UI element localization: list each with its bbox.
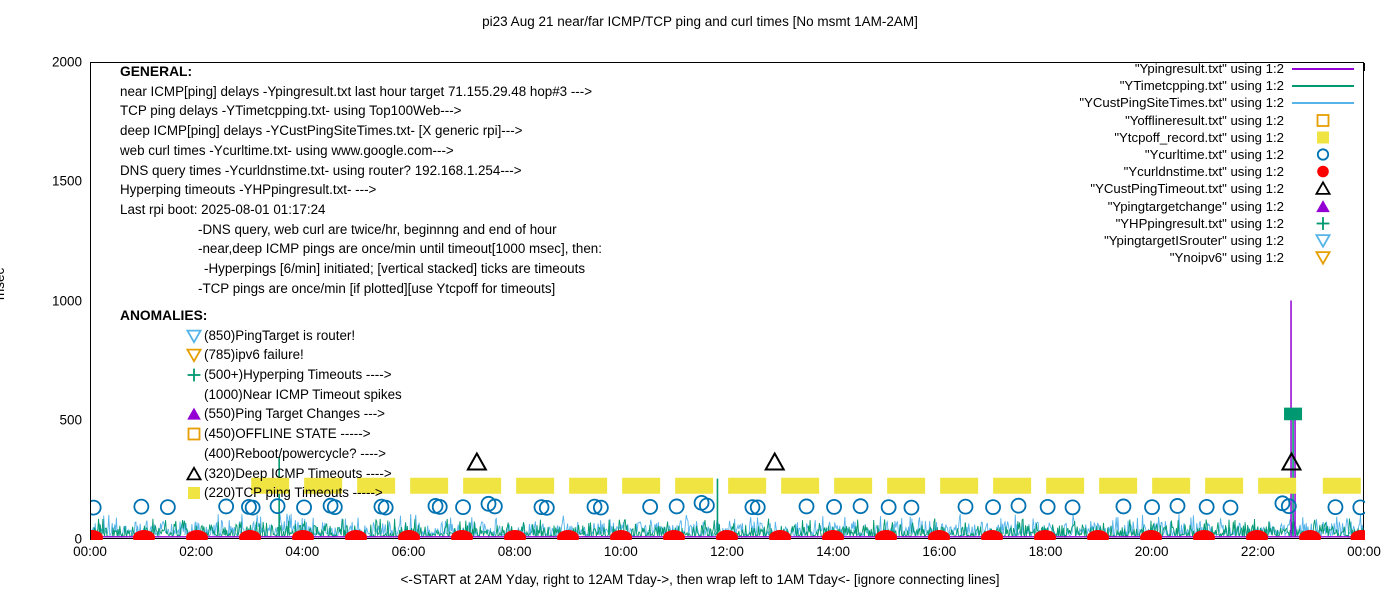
anomaly-item: (785)ipv6 failure! bbox=[120, 345, 207, 365]
legend-entry[interactable]: "Ytcpoff_record.txt" using 1:2 bbox=[960, 129, 1360, 146]
anomaly-item: (1000)Near ICMP Timeout spikes bbox=[120, 385, 207, 405]
legend-key-square-open-icon bbox=[1284, 112, 1360, 129]
x-tick-label: 22:00 bbox=[1241, 544, 1275, 559]
general-line: -near,deep ICMP pings are once/min until… bbox=[120, 239, 602, 259]
anomaly-item: (320)Deep ICMP Timeouts ----> bbox=[120, 464, 207, 484]
general-notes-block: GENERAL:near ICMP[ping] delays -Ypingres… bbox=[120, 62, 602, 298]
legend-entry[interactable]: "YTimetcpping.txt" using 1:2 bbox=[960, 77, 1360, 94]
general-line: deep ICMP[ping] delays -YCustPingSiteTim… bbox=[120, 121, 602, 141]
legend-entry[interactable]: "YCustPingSiteTimes.txt" using 1:2 bbox=[960, 94, 1360, 111]
anomalies-header: ANOMALIES: bbox=[120, 306, 207, 326]
anomaly-item: (550)Ping Target Changes ---> bbox=[120, 404, 207, 424]
x-tick-label: 10:00 bbox=[604, 544, 638, 559]
chart-page: pi23 Aug 21 near/far ICMP/TCP ping and c… bbox=[0, 0, 1400, 600]
x-tick-label: 16:00 bbox=[922, 544, 956, 559]
x-tick-label: 18:00 bbox=[1029, 544, 1063, 559]
legend-label: "YCustPingSiteTimes.txt" using 1:2 bbox=[1079, 95, 1284, 110]
legend-entry[interactable]: "Ynoipv6" using 1:2 bbox=[960, 249, 1360, 266]
legend-key-circle-fill-icon bbox=[1284, 163, 1360, 180]
general-line: -Hyperpings [6/min] initiated; [vertical… bbox=[120, 259, 602, 279]
general-header: GENERAL: bbox=[120, 62, 602, 82]
legend-label: "YpingtargetISrouter" using 1:2 bbox=[1104, 233, 1284, 248]
legend-line-swatch bbox=[1292, 102, 1354, 104]
y-tick-label: 1000 bbox=[0, 293, 82, 308]
x-tick-label: 20:00 bbox=[1135, 544, 1169, 559]
tri-down-lightblue-icon bbox=[184, 328, 204, 344]
anomaly-label: (850)PingTarget is router! bbox=[204, 326, 355, 346]
y-tick-label: 1500 bbox=[0, 174, 82, 189]
legend-label: "YHPpingresult.txt" using 1:2 bbox=[1116, 216, 1284, 231]
y-tick-label: 500 bbox=[0, 412, 82, 427]
anomaly-item: (220)TCP ping Timeouts -----> bbox=[120, 483, 207, 503]
x-tick-label: 00:00 bbox=[73, 544, 107, 559]
legend-key-tri-up-open-icon bbox=[1284, 180, 1360, 197]
legend-entry[interactable]: "YHPpingresult.txt" using 1:2 bbox=[960, 215, 1360, 232]
tri-up-black-icon bbox=[184, 466, 204, 482]
x-tick-label: 06:00 bbox=[392, 544, 426, 559]
legend-entry[interactable]: "YCustPingTimeout.txt" using 1:2 bbox=[960, 180, 1360, 197]
legend-line-swatch bbox=[1292, 85, 1354, 87]
general-line: DNS query times -Ycurldnstime.txt- using… bbox=[120, 161, 602, 181]
general-line: -TCP pings are once/min [if plotted][use… bbox=[120, 279, 602, 299]
legend-key-line-icon bbox=[1284, 77, 1360, 94]
legend-label: "Ycurltime.txt" using 1:2 bbox=[1145, 147, 1284, 162]
legend-key-plus-icon bbox=[1284, 215, 1360, 232]
anomaly-item: (500+)Hyperping Timeouts ----> bbox=[120, 365, 207, 385]
anomalies-notes-block: ANOMALIES:(850)PingTarget is router!(785… bbox=[120, 306, 207, 503]
legend-entry[interactable]: "Ycurldnstime.txt" using 1:2 bbox=[960, 163, 1360, 180]
x-tick-label: 02:00 bbox=[179, 544, 213, 559]
x-axis-label: <-START at 2AM Yday, right to 12AM Tday-… bbox=[0, 572, 1400, 587]
legend-entry[interactable]: "Ypingtargetchange" using 1:2 bbox=[960, 198, 1360, 215]
anomaly-label: (550)Ping Target Changes ---> bbox=[204, 404, 385, 424]
general-line: web curl times -Ycurltime.txt- using www… bbox=[120, 141, 602, 161]
legend-label: "YTimetcpping.txt" using 1:2 bbox=[1120, 78, 1284, 93]
chart-legend: "Ypingresult.txt" using 1:2"YTimetcpping… bbox=[960, 60, 1360, 266]
y-tick-label: 0 bbox=[0, 532, 82, 547]
general-line: -DNS query, web curl are twice/hr, begin… bbox=[120, 220, 602, 240]
legend-key-square-fill-icon bbox=[1284, 129, 1360, 146]
legend-label: "Ycurldnstime.txt" using 1:2 bbox=[1124, 164, 1284, 179]
legend-key-tri-up-fill-icon bbox=[1284, 198, 1360, 215]
legend-label: "YCustPingTimeout.txt" using 1:2 bbox=[1090, 181, 1284, 196]
anomaly-label: (785)ipv6 failure! bbox=[204, 345, 304, 365]
tri-down-orange-icon bbox=[184, 347, 204, 363]
anomaly-item: (400)Reboot/powercycle? ----> bbox=[120, 444, 207, 464]
anomaly-label: (500+)Hyperping Timeouts ----> bbox=[204, 365, 392, 385]
anomaly-item: (450)OFFLINE STATE -----> bbox=[120, 424, 207, 444]
legend-label: "Ytcpoff_record.txt" using 1:2 bbox=[1114, 130, 1284, 145]
legend-entry[interactable]: "YpingtargetISrouter" using 1:2 bbox=[960, 232, 1360, 249]
anomaly-label: (400)Reboot/powercycle? ----> bbox=[204, 444, 386, 464]
legend-label: "Ypingresult.txt" using 1:2 bbox=[1135, 61, 1284, 76]
legend-key-tri-down-open-icon bbox=[1284, 249, 1360, 266]
anomaly-label: (450)OFFLINE STATE -----> bbox=[204, 424, 371, 444]
anomaly-label: (1000)Near ICMP Timeout spikes bbox=[204, 385, 402, 405]
legend-key-tri-down-open-icon bbox=[1284, 232, 1360, 249]
anomaly-label: (220)TCP ping Timeouts -----> bbox=[204, 483, 383, 503]
x-tick-label: 08:00 bbox=[498, 544, 532, 559]
chart-title: pi23 Aug 21 near/far ICMP/TCP ping and c… bbox=[0, 14, 1400, 29]
legend-label: "Yofflineresult.txt" using 1:2 bbox=[1125, 113, 1284, 128]
legend-entry[interactable]: "Ycurltime.txt" using 1:2 bbox=[960, 146, 1360, 163]
anomaly-item: (850)PingTarget is router! bbox=[120, 326, 207, 346]
general-line: Hyperping timeouts -YHPpingresult.txt- -… bbox=[120, 180, 602, 200]
legend-key-line-icon bbox=[1284, 94, 1360, 111]
legend-entry[interactable]: "Yofflineresult.txt" using 1:2 bbox=[960, 112, 1360, 129]
anomaly-label: (320)Deep ICMP Timeouts ----> bbox=[204, 464, 392, 484]
general-line: TCP ping delays -YTimetcpping.txt- using… bbox=[120, 101, 602, 121]
general-line: Last rpi boot: 2025-08-01 01:17:24 bbox=[120, 200, 602, 220]
legend-key-circle-open-icon bbox=[1284, 146, 1360, 163]
legend-label: "Ynoipv6" using 1:2 bbox=[1170, 250, 1284, 265]
general-line: near ICMP[ping] delays -Ypingresult.txt … bbox=[120, 82, 602, 102]
x-tick-label: 00:00 bbox=[1347, 544, 1381, 559]
y-tick-label: 2000 bbox=[0, 55, 82, 70]
tri-up-purple-icon bbox=[184, 406, 204, 422]
plus-teal-icon bbox=[184, 367, 204, 383]
square-open-orange-icon bbox=[184, 426, 204, 442]
square-fill-yellow-icon bbox=[184, 485, 204, 501]
x-tick-label: 04:00 bbox=[285, 544, 319, 559]
legend-entry[interactable]: "Ypingresult.txt" using 1:2 bbox=[960, 60, 1360, 77]
legend-line-swatch bbox=[1292, 68, 1354, 70]
legend-label: "Ypingtargetchange" using 1:2 bbox=[1108, 199, 1284, 214]
legend-key-line-icon bbox=[1284, 60, 1360, 77]
x-tick-label: 12:00 bbox=[710, 544, 744, 559]
x-tick-label: 14:00 bbox=[816, 544, 850, 559]
